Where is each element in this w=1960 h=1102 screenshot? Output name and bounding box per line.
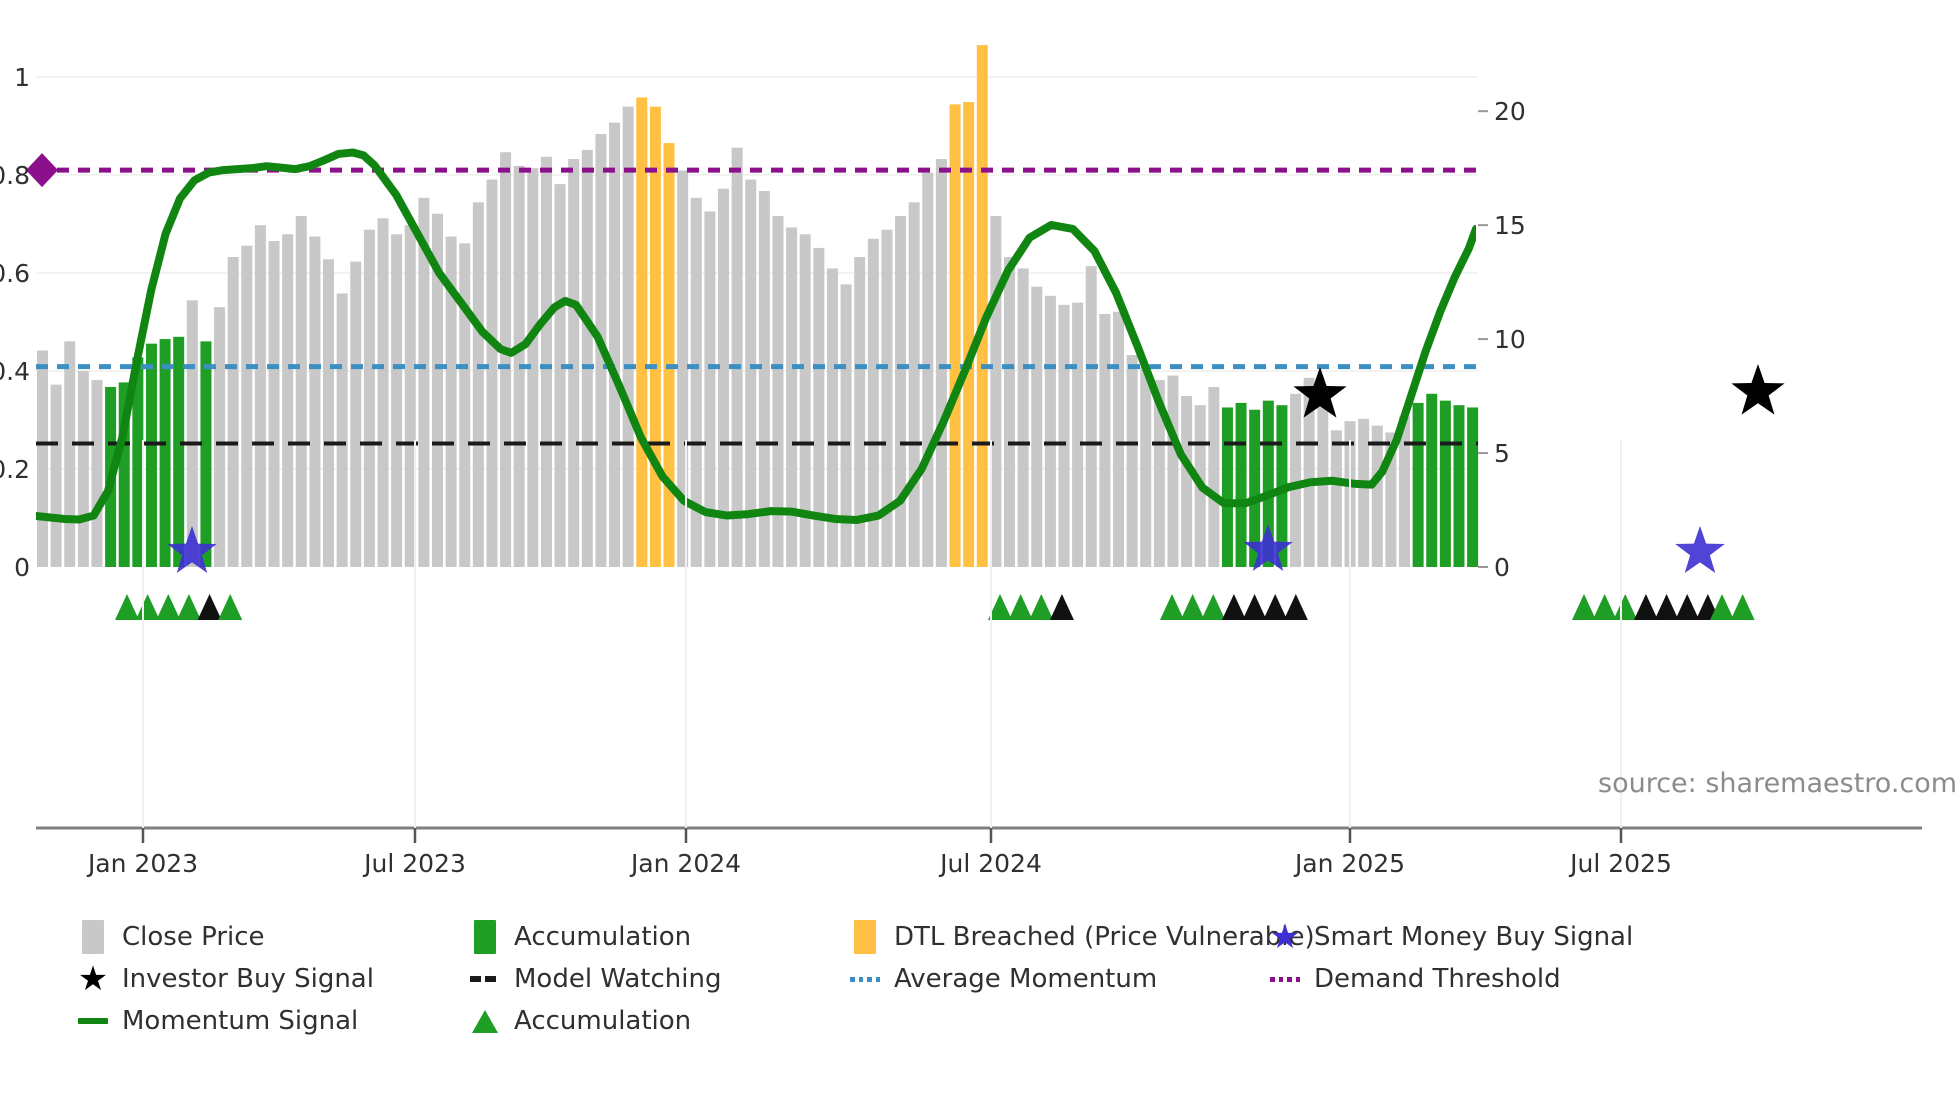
price-bar <box>364 230 375 567</box>
x-axis-tick-label: Jan 2023 <box>86 849 198 878</box>
legend-item[interactable]: Accumulation <box>470 920 691 954</box>
price-bar <box>745 180 756 567</box>
price-bar <box>241 246 252 567</box>
investor-buy-signal-star <box>1731 364 1784 415</box>
price-bar <box>841 284 852 567</box>
price-bar <box>391 234 402 567</box>
smart-money-buy-signal-star <box>1675 526 1724 573</box>
price-bar <box>459 243 470 567</box>
chart-canvas: Jan 2023Jul 2023Jan 2024Jul 2024Jan 2025… <box>0 0 1960 1102</box>
price-bar <box>977 45 988 567</box>
price-bar <box>500 152 511 567</box>
price-bar <box>1453 405 1464 567</box>
price-bar <box>1099 314 1110 567</box>
x-axis-tick-label: Jul 2023 <box>362 849 466 878</box>
legend-item[interactable]: Model Watching <box>470 962 721 996</box>
y-axis-left-tick-label: 0.4 <box>0 357 30 386</box>
legend-swatch-star: ★ <box>78 962 108 996</box>
price-bar <box>555 184 566 567</box>
legend-item[interactable]: Close Price <box>78 920 265 954</box>
legend-item[interactable]: ★Smart Money Buy Signal <box>1270 920 1633 954</box>
price-bar <box>350 262 361 567</box>
legend-item-label: Momentum Signal <box>122 1008 358 1034</box>
accumulation-triangle <box>1263 594 1287 620</box>
price-bar <box>990 216 1001 567</box>
legend-item[interactable]: Accumulation <box>470 1004 691 1038</box>
y-axis-right-tick-label: 0 <box>1494 553 1510 582</box>
price-bar <box>269 241 280 567</box>
price-bar <box>609 123 620 567</box>
accumulation-triangle <box>1634 594 1658 620</box>
price-bar <box>650 107 661 567</box>
price-bar <box>1426 394 1437 567</box>
accumulation-triangle <box>1009 594 1033 620</box>
accumulation-triangle <box>1050 594 1074 620</box>
legend-item[interactable]: Momentum Signal <box>78 1004 358 1038</box>
price-bar <box>255 225 266 567</box>
accumulation-triangle <box>1222 594 1246 620</box>
price-bar <box>1127 355 1138 567</box>
price-bar <box>1018 268 1029 567</box>
price-bar <box>1086 266 1097 567</box>
price-bar <box>732 148 743 567</box>
y-axis-right-tick-label: 10 <box>1494 325 1526 354</box>
price-bar <box>282 234 293 567</box>
price-bar <box>664 143 675 567</box>
accumulation-triangle <box>1655 594 1679 620</box>
accumulation-triangle <box>1613 594 1637 620</box>
price-bar <box>160 339 171 567</box>
legend-swatch-dotted <box>850 962 880 996</box>
price-bar <box>309 237 320 567</box>
price-bar <box>173 337 184 567</box>
accumulation-triangle <box>1160 594 1184 620</box>
price-bar <box>37 350 48 567</box>
accumulation-triangle <box>115 594 139 620</box>
price-bar <box>473 202 484 567</box>
accumulation-triangle <box>177 594 201 620</box>
legend-item-label: DTL Breached (Price Vulnerable) <box>894 924 1315 950</box>
price-bar <box>936 159 947 567</box>
price-bar <box>1140 366 1151 567</box>
x-axis-tick-label: Jan 2024 <box>629 849 741 878</box>
price-bar <box>1467 407 1478 567</box>
accumulation-triangle <box>218 594 242 620</box>
price-bar <box>909 202 920 567</box>
x-axis-tick-label: Jul 2025 <box>1568 849 1672 878</box>
legend-swatch-dash <box>470 962 500 996</box>
price-bar <box>200 341 211 567</box>
legend-item-label: Demand Threshold <box>1314 966 1561 992</box>
price-bar <box>214 307 225 567</box>
price-bar <box>296 216 307 567</box>
price-bar <box>1440 401 1451 567</box>
price-bar <box>1072 303 1083 567</box>
legend-swatch-bar <box>78 920 108 954</box>
price-bar <box>1031 287 1042 567</box>
accumulation-triangle <box>1572 594 1596 620</box>
y-axis-left-tick-label: 0.8 <box>0 161 30 190</box>
price-bar <box>146 344 157 567</box>
y-axis-left-tick-label: 0 <box>14 553 30 582</box>
accumulation-triangle <box>1731 594 1755 620</box>
x-axis-tick-label: Jul 2024 <box>938 849 1042 878</box>
x-axis-tick-label: Jan 2025 <box>1293 849 1405 878</box>
accumulation-triangle <box>1201 594 1225 620</box>
y-axis-right-tick-label: 20 <box>1494 97 1526 126</box>
price-bar <box>1372 426 1383 567</box>
y-axis-left-tick-label: 0.6 <box>0 259 30 288</box>
accumulation-triangle <box>1284 594 1308 620</box>
legend-swatch-bar <box>470 920 500 954</box>
legend-swatch-line <box>78 1004 108 1038</box>
price-bar <box>78 371 89 567</box>
price-bar <box>1045 296 1056 567</box>
accumulation-triangle <box>198 594 222 620</box>
price-bar <box>1358 419 1369 567</box>
accumulation-triangle <box>136 594 160 620</box>
price-bar <box>568 159 579 567</box>
price-bar <box>1113 312 1124 567</box>
accumulation-triangle <box>1181 594 1205 620</box>
accumulation-triangles <box>115 594 1755 620</box>
price-bar <box>51 385 62 567</box>
legend-item[interactable]: Average Momentum <box>850 962 1157 996</box>
price-bar <box>1331 430 1342 567</box>
price-bar <box>486 180 497 567</box>
legend-swatch-star: ★ <box>1270 920 1300 954</box>
legend-item-label: Close Price <box>122 924 265 950</box>
price-bar <box>582 150 593 567</box>
price-bar <box>1004 257 1015 567</box>
demand-threshold-diamond-marker <box>26 153 58 187</box>
y-axis-left-tick-label: 0.2 <box>0 455 30 484</box>
chart-legend: Close PriceAccumulationDTL Breached (Pri… <box>78 920 1948 1060</box>
price-bar <box>922 173 933 567</box>
accumulation-triangle <box>1243 594 1267 620</box>
price-bar <box>228 257 239 567</box>
price-bar <box>541 157 552 567</box>
price-bar <box>1181 396 1192 567</box>
legend-item-label: Accumulation <box>514 924 691 950</box>
accumulation-triangle <box>156 594 180 620</box>
price-bar <box>1222 407 1233 567</box>
legend-item-label: Average Momentum <box>894 966 1157 992</box>
price-bar <box>1167 376 1178 567</box>
price-bar <box>378 218 389 567</box>
price-bar <box>323 259 334 567</box>
legend-item[interactable]: ★Investor Buy Signal <box>78 962 374 996</box>
legend-item-label: Model Watching <box>514 966 721 992</box>
y-axis-left-tick-label: 1 <box>14 63 30 92</box>
price-bar <box>337 294 348 567</box>
legend-swatch-triangle <box>470 1004 500 1038</box>
price-bar <box>1317 387 1328 567</box>
price-bar <box>623 107 634 567</box>
price-bar <box>1059 305 1070 567</box>
legend-swatch-bar <box>850 920 880 954</box>
legend-swatch-dotted <box>1270 962 1300 996</box>
legend-item[interactable]: DTL Breached (Price Vulnerable) <box>850 920 1315 954</box>
price-bar <box>895 216 906 567</box>
price-bar <box>1413 403 1424 567</box>
price-bar <box>64 341 75 567</box>
y-axis-right-tick-label: 5 <box>1494 439 1510 468</box>
price-bar <box>1208 387 1219 567</box>
price-bar <box>950 104 961 567</box>
y-axis-right-tick-label: 15 <box>1494 211 1526 240</box>
legend-item-label: Smart Money Buy Signal <box>1314 924 1633 950</box>
price-bars <box>37 45 1478 567</box>
legend-item-label: Investor Buy Signal <box>122 966 374 992</box>
price-bar <box>1290 394 1301 567</box>
accumulation-triangle <box>1593 594 1617 620</box>
source-watermark: source: sharemaestro.com <box>1598 768 1957 799</box>
accumulation-triangle <box>1675 594 1699 620</box>
legend-item-label: Accumulation <box>514 1008 691 1034</box>
accumulation-triangle <box>1029 594 1053 620</box>
price-bar <box>718 189 729 567</box>
legend-item[interactable]: Demand Threshold <box>1270 962 1561 996</box>
price-bar <box>91 380 102 567</box>
